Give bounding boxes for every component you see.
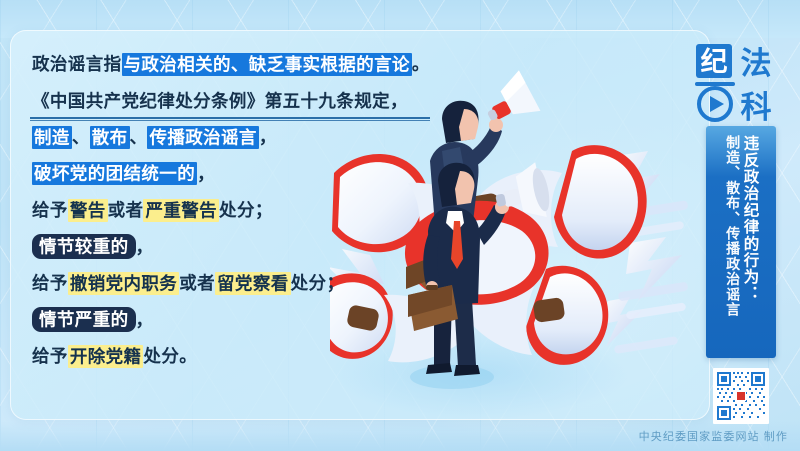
text-segment-yellow: 警告: [68, 199, 108, 222]
text-segment-plain: 给予: [32, 346, 68, 366]
text-line-4: 破坏党的团结统一的，: [32, 156, 462, 193]
text-segment-plain: 、: [130, 127, 148, 147]
text-segment-plain: ，: [259, 127, 277, 147]
text-line-3: 制造、散布、传播政治谣言，: [32, 119, 462, 156]
vertical-banner: 违反政治纪律的行为： 制造、散布、传播政治谣言: [706, 126, 776, 358]
text-segment-yellow: 留党察看: [215, 272, 291, 295]
credit-text: 中央纪委国家监委网站 制作: [639, 428, 788, 444]
title-double-underline: [30, 117, 430, 121]
text-segment-blue: 散布: [90, 126, 130, 149]
text-segment-plain: 处分。: [143, 346, 197, 366]
right-rail: 纪 法 科 违反政治纪律的行为： 制造、散布、传播政治谣言: [682, 0, 800, 451]
qr-code[interactable]: [713, 368, 769, 424]
text-segment-plain: ，: [136, 237, 154, 257]
banner-main-text: 违反政治纪律的行为：: [741, 135, 758, 350]
text-segment-blue: 与政治相关的、缺乏事实根据的言论: [122, 53, 412, 76]
text-segment-plain: 处分；: [291, 273, 345, 293]
text-segment-plain: ，: [197, 164, 215, 184]
text-segment-blue: 传播政治谣言: [147, 126, 258, 149]
text-segment-plain: 或者: [179, 273, 215, 293]
text-segment-plain: 处分；: [219, 200, 273, 220]
text-segment-blue: 制造: [32, 126, 72, 149]
logo-char-ji: 纪: [701, 46, 728, 77]
poster-canvas: 政治谣言指与政治相关的、缺乏事实根据的言论。《中国共产党纪律处分条例》第五十九条…: [0, 0, 800, 451]
text-line-1: 政治谣言指与政治相关的、缺乏事实根据的言论。: [32, 46, 462, 83]
text-segment-yellow: 撤销党内职务: [68, 272, 179, 295]
jifa-kepu-logo[interactable]: 纪 法 科: [694, 42, 790, 124]
text-segment-yellow: 严重警告: [143, 199, 219, 222]
text-segment-plain: 。: [412, 54, 430, 74]
text-segment-plain: 《中国共产党纪律处分条例》第五十九条规定，: [32, 91, 408, 111]
text-segment-plain: 给予: [32, 200, 68, 220]
text-line-9: 给予开除党籍处分。: [32, 338, 462, 375]
text-line-6: 情节较重的，: [32, 229, 462, 266]
text-line-2: 《中国共产党纪律处分条例》第五十九条规定，: [32, 83, 462, 120]
text-line-8: 情节严重的，: [32, 302, 462, 339]
banner-sub-text: 制造、散布、传播政治谣言: [723, 135, 739, 350]
text-line-7: 给予撤销党内职务或者留党察看处分；: [32, 265, 462, 302]
text-segment-plain: 政治谣言指: [32, 54, 122, 74]
text-segment-plain: ，: [136, 310, 154, 330]
logo-char-fa: 法: [741, 46, 772, 81]
text-segment-plain: 或者: [108, 200, 144, 220]
text-segment-blue: 破坏党的团结统一的: [32, 162, 197, 185]
text-line-5: 给予警告或者严重警告处分；: [32, 192, 462, 229]
text-segment-dark: 情节较重的: [32, 234, 136, 259]
main-text-block: 政治谣言指与政治相关的、缺乏事实根据的言论。《中国共产党纪律处分条例》第五十九条…: [32, 46, 462, 375]
text-segment-yellow: 开除党籍: [68, 345, 144, 368]
text-segment-plain: 给予: [32, 273, 68, 293]
text-segment-plain: 、: [72, 127, 90, 147]
text-segment-dark: 情节严重的: [32, 307, 136, 332]
logo-char-ke: 科: [741, 90, 772, 124]
